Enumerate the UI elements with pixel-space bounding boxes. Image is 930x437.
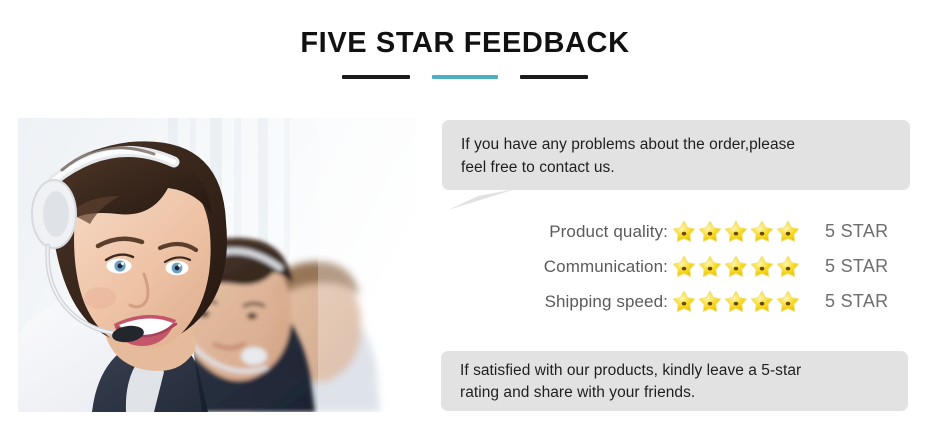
star-icon: [697, 289, 723, 315]
page-title: FIVE STAR FEEDBACK: [0, 26, 930, 60]
title-dividers: [342, 75, 588, 80]
photo-illustration: [18, 118, 416, 412]
rating-row: Product quality: 5 STAR: [505, 214, 925, 249]
star-icon: [723, 219, 749, 245]
satisfaction-note-line-2: rating and share with your friends.: [460, 382, 890, 404]
star-icon: [749, 254, 775, 280]
divider-right: [520, 75, 588, 79]
feedback-banner: FIVE STAR FEEDBACK: [0, 0, 930, 437]
divider-left: [342, 75, 410, 79]
satisfaction-note-line-1: If satisfied with our products, kindly l…: [460, 360, 890, 382]
star-rating: [671, 254, 819, 280]
star-icon: [697, 219, 723, 245]
star-icon: [723, 289, 749, 315]
rating-row: Shipping speed: 5 STAR: [505, 284, 925, 319]
star-icon: [775, 289, 801, 315]
rating-label: Shipping speed:: [505, 292, 668, 312]
contact-message-bubble: If you have any problems about the order…: [442, 120, 910, 190]
star-icon: [697, 254, 723, 280]
satisfaction-note-box: If satisfied with our products, kindly l…: [441, 351, 908, 411]
rating-value: 5 STAR: [825, 221, 888, 242]
contact-message-line-1: If you have any problems about the order…: [461, 133, 892, 156]
speech-bubble-tail: [448, 189, 520, 211]
customer-service-photo: [18, 118, 416, 412]
rating-label: Communication:: [505, 257, 668, 277]
star-icon: [749, 289, 775, 315]
star-icon: [749, 219, 775, 245]
rating-value: 5 STAR: [825, 256, 888, 277]
star-icon: [723, 254, 749, 280]
divider-center-accent: [432, 75, 498, 79]
star-icon: [775, 254, 801, 280]
contact-message-line-2: feel free to contact us.: [461, 156, 892, 179]
star-rating: [671, 219, 819, 245]
rating-value: 5 STAR: [825, 291, 888, 312]
rating-label: Product quality:: [505, 222, 668, 242]
star-icon: [775, 219, 801, 245]
star-rating: [671, 289, 819, 315]
star-icon: [671, 219, 697, 245]
star-icon: [671, 254, 697, 280]
rating-row: Communication: 5 STAR: [505, 249, 925, 284]
star-icon: [671, 289, 697, 315]
ratings-list: Product quality: 5 STAR Communication: 5…: [505, 214, 925, 319]
